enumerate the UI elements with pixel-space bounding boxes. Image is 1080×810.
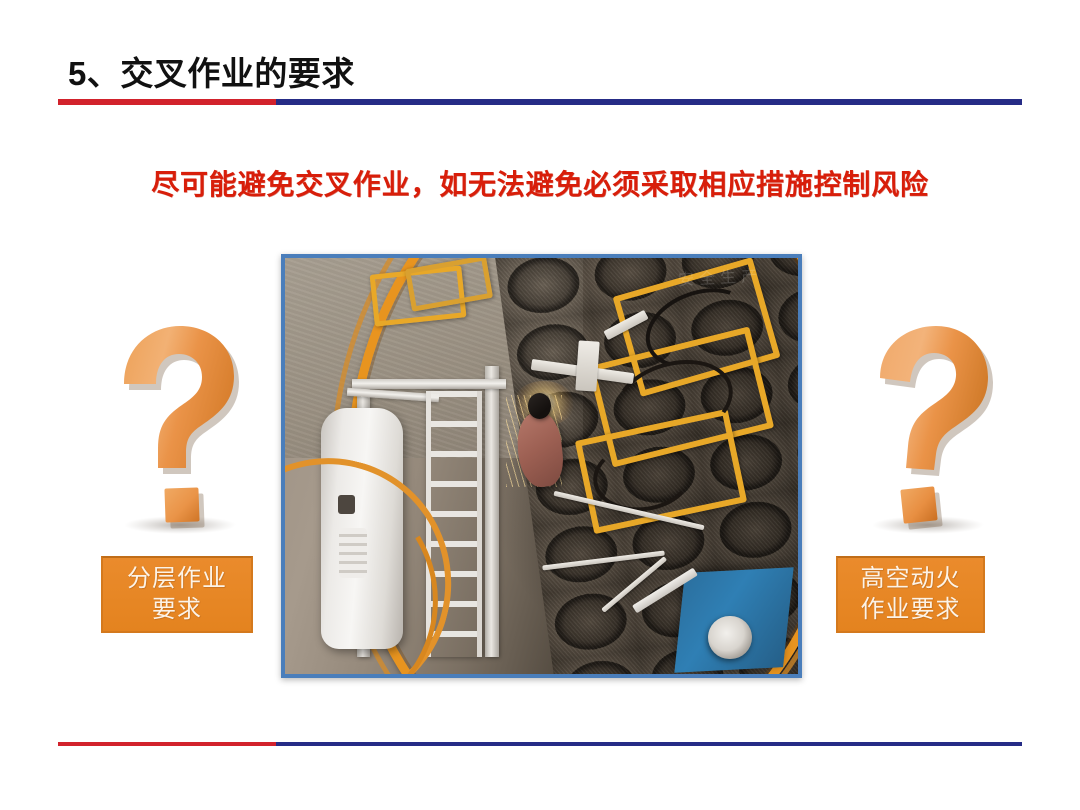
divider-red-segment (58, 742, 276, 746)
footer-divider-bottom (58, 742, 1022, 746)
photo-worker-helmet (528, 393, 552, 419)
site-photo-content: 安全生产 (285, 258, 798, 674)
divider-blue-segment (276, 99, 1022, 105)
photo-pipe (576, 341, 600, 392)
photo-structure-member (352, 379, 506, 389)
divider-blue-segment (276, 742, 1022, 746)
caption-right-label: 高空动火 作业要求 (861, 564, 961, 624)
question-mark-icon (112, 322, 242, 537)
photo-structure-member (485, 366, 499, 657)
photo-machine-wheel (708, 616, 752, 660)
site-photo: 安全生产 (281, 254, 802, 678)
caption-box-hot-work-at-height: 高空动火 作业要求 (836, 556, 985, 633)
divider-red-segment (58, 99, 276, 105)
caption-left-label: 分层作业 要求 (127, 564, 227, 624)
page-title: 5、交叉作业的要求 (68, 47, 355, 95)
headline-text: 尽可能避免交叉作业，如无法避免必须采取相应措施控制风险 (0, 163, 1080, 203)
title-divider-top (58, 99, 1022, 105)
caption-box-layered-work: 分层作业 要求 (101, 556, 253, 633)
photo-watermark: 安全生产 (678, 262, 763, 290)
question-mark-icon (862, 322, 992, 537)
